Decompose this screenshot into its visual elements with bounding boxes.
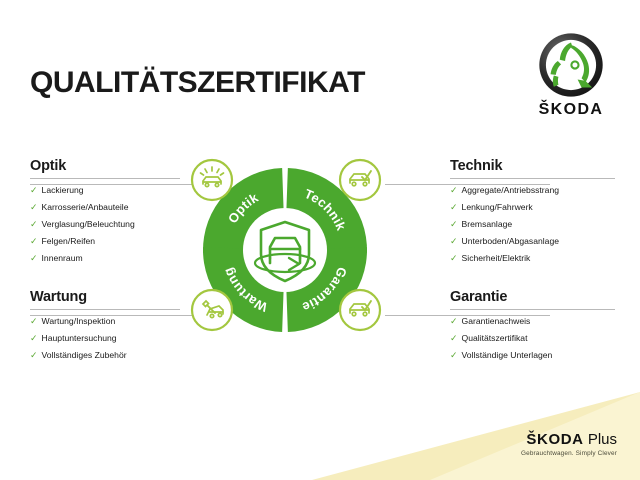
check-icon: ✓ xyxy=(450,220,458,229)
list-item-label: Felgen/Reifen xyxy=(42,237,96,246)
list-item: ✓Karrosserie/Anbauteile xyxy=(30,203,180,212)
skoda-wordmark: ŠKODA xyxy=(527,101,615,119)
list-item: ✓Innenraum xyxy=(30,254,180,263)
list-item-label: Garantienachweis xyxy=(462,317,531,326)
footer-tagline: Gebrauchtwagen. Simply Clever xyxy=(487,450,617,457)
list-item: ✓Verglasung/Beleuchtung xyxy=(30,220,180,229)
badge-garantie xyxy=(338,288,382,332)
check-icon: ✓ xyxy=(450,237,458,246)
section-title-technik: Technik xyxy=(450,158,615,174)
list-item-label: Verglasung/Beleuchtung xyxy=(42,220,135,229)
list-item-label: Vollständige Unterlagen xyxy=(462,351,553,360)
check-icon: ✓ xyxy=(450,203,458,212)
list-item: ✓Sicherheit/Elektrik xyxy=(450,254,615,263)
section-garantie: Garantie ✓Garantienachweis ✓Qualitätszer… xyxy=(450,289,615,368)
list-item-label: Aggregate/Antriebsstrang xyxy=(462,186,559,195)
section-wartung: Wartung ✓Wartung/Inspektion ✓Hauptunters… xyxy=(30,289,180,368)
check-icon: ✓ xyxy=(30,317,38,326)
check-icon: ✓ xyxy=(30,351,38,360)
list-item: ✓Felgen/Reifen xyxy=(30,237,180,246)
list-item-label: Vollständiges Zubehör xyxy=(42,351,127,360)
section-title-optik: Optik xyxy=(30,158,180,174)
list-item: ✓Lackierung xyxy=(30,186,180,195)
section-rule xyxy=(450,309,615,310)
list-item-label: Innenraum xyxy=(42,254,83,263)
check-icon: ✓ xyxy=(450,351,458,360)
check-icon: ✓ xyxy=(450,317,458,326)
badge-wartung xyxy=(190,288,234,332)
check-icon: ✓ xyxy=(450,254,458,263)
list-item: ✓Hauptuntersuchung xyxy=(30,334,180,343)
list-item: ✓Wartung/Inspektion xyxy=(30,317,180,326)
list-item: ✓Vollständiges Zubehör xyxy=(30,351,180,360)
badge-technik xyxy=(338,158,382,202)
footer-brand-skoda: ŠKODA xyxy=(526,431,583,448)
list-item-label: Bremsanlage xyxy=(462,220,513,229)
check-icon: ✓ xyxy=(30,334,38,343)
section-rule xyxy=(30,178,180,179)
check-icon: ✓ xyxy=(450,334,458,343)
list-item: ✓Lenkung/Fahrwerk xyxy=(450,203,615,212)
list-item-label: Qualitätszertifikat xyxy=(462,334,528,343)
check-icon: ✓ xyxy=(30,186,38,195)
footer-brand-plus: Plus xyxy=(588,431,617,448)
list-item-label: Unterboden/Abgasanlage xyxy=(462,237,559,246)
badge-optik xyxy=(190,158,234,202)
check-icon: ✓ xyxy=(30,220,38,229)
checklist-optik: ✓Lackierung ✓Karrosserie/Anbauteile ✓Ver… xyxy=(30,186,180,263)
section-title-wartung: Wartung xyxy=(30,289,180,305)
check-icon: ✓ xyxy=(30,237,38,246)
list-item-label: Wartung/Inspektion xyxy=(42,317,116,326)
section-optik: Optik ✓Lackierung ✓Karrosserie/Anbauteil… xyxy=(30,158,180,271)
section-rule xyxy=(450,178,615,179)
section-rule xyxy=(30,309,180,310)
check-icon: ✓ xyxy=(30,254,38,263)
list-item-label: Lenkung/Fahrwerk xyxy=(462,203,533,212)
section-technik: Technik ✓Aggregate/Antriebsstrang ✓Lenku… xyxy=(450,158,615,271)
list-item-label: Karrosserie/Anbauteile xyxy=(42,203,129,212)
list-item: ✓Vollständige Unterlagen xyxy=(450,351,615,360)
checklist-wartung: ✓Wartung/Inspektion ✓Hauptuntersuchung ✓… xyxy=(30,317,180,360)
page-title: QUALITÄTSZERTIFIKAT xyxy=(30,66,365,100)
section-title-garantie: Garantie xyxy=(450,289,615,305)
checklist-garantie: ✓Garantienachweis ✓Qualitätszertifikat ✓… xyxy=(450,317,615,360)
list-item: ✓Qualitätszertifikat xyxy=(450,334,615,343)
check-icon: ✓ xyxy=(30,203,38,212)
list-item-label: Lackierung xyxy=(42,186,84,195)
footer-brand-name: ŠKODA Plus xyxy=(487,432,617,447)
skoda-logo: ŠKODA xyxy=(527,32,615,124)
list-item: ✓Bremsanlage xyxy=(450,220,615,229)
skoda-winged-arrow-icon xyxy=(538,32,604,98)
check-icon: ✓ xyxy=(450,186,458,195)
list-item: ✓Aggregate/Antriebsstrang xyxy=(450,186,615,195)
footer-brand: ŠKODA Plus Gebrauchtwagen. Simply Clever xyxy=(487,432,617,457)
list-item-label: Sicherheit/Elektrik xyxy=(462,254,531,263)
list-item-label: Hauptuntersuchung xyxy=(42,334,117,343)
list-item: ✓Garantienachweis xyxy=(450,317,615,326)
checklist-technik: ✓Aggregate/Antriebsstrang ✓Lenkung/Fahrw… xyxy=(450,186,615,263)
list-item: ✓Unterboden/Abgasanlage xyxy=(450,237,615,246)
certificate-page: QUALITÄTSZERTIFIKAT ŠKODA xyxy=(0,0,640,480)
